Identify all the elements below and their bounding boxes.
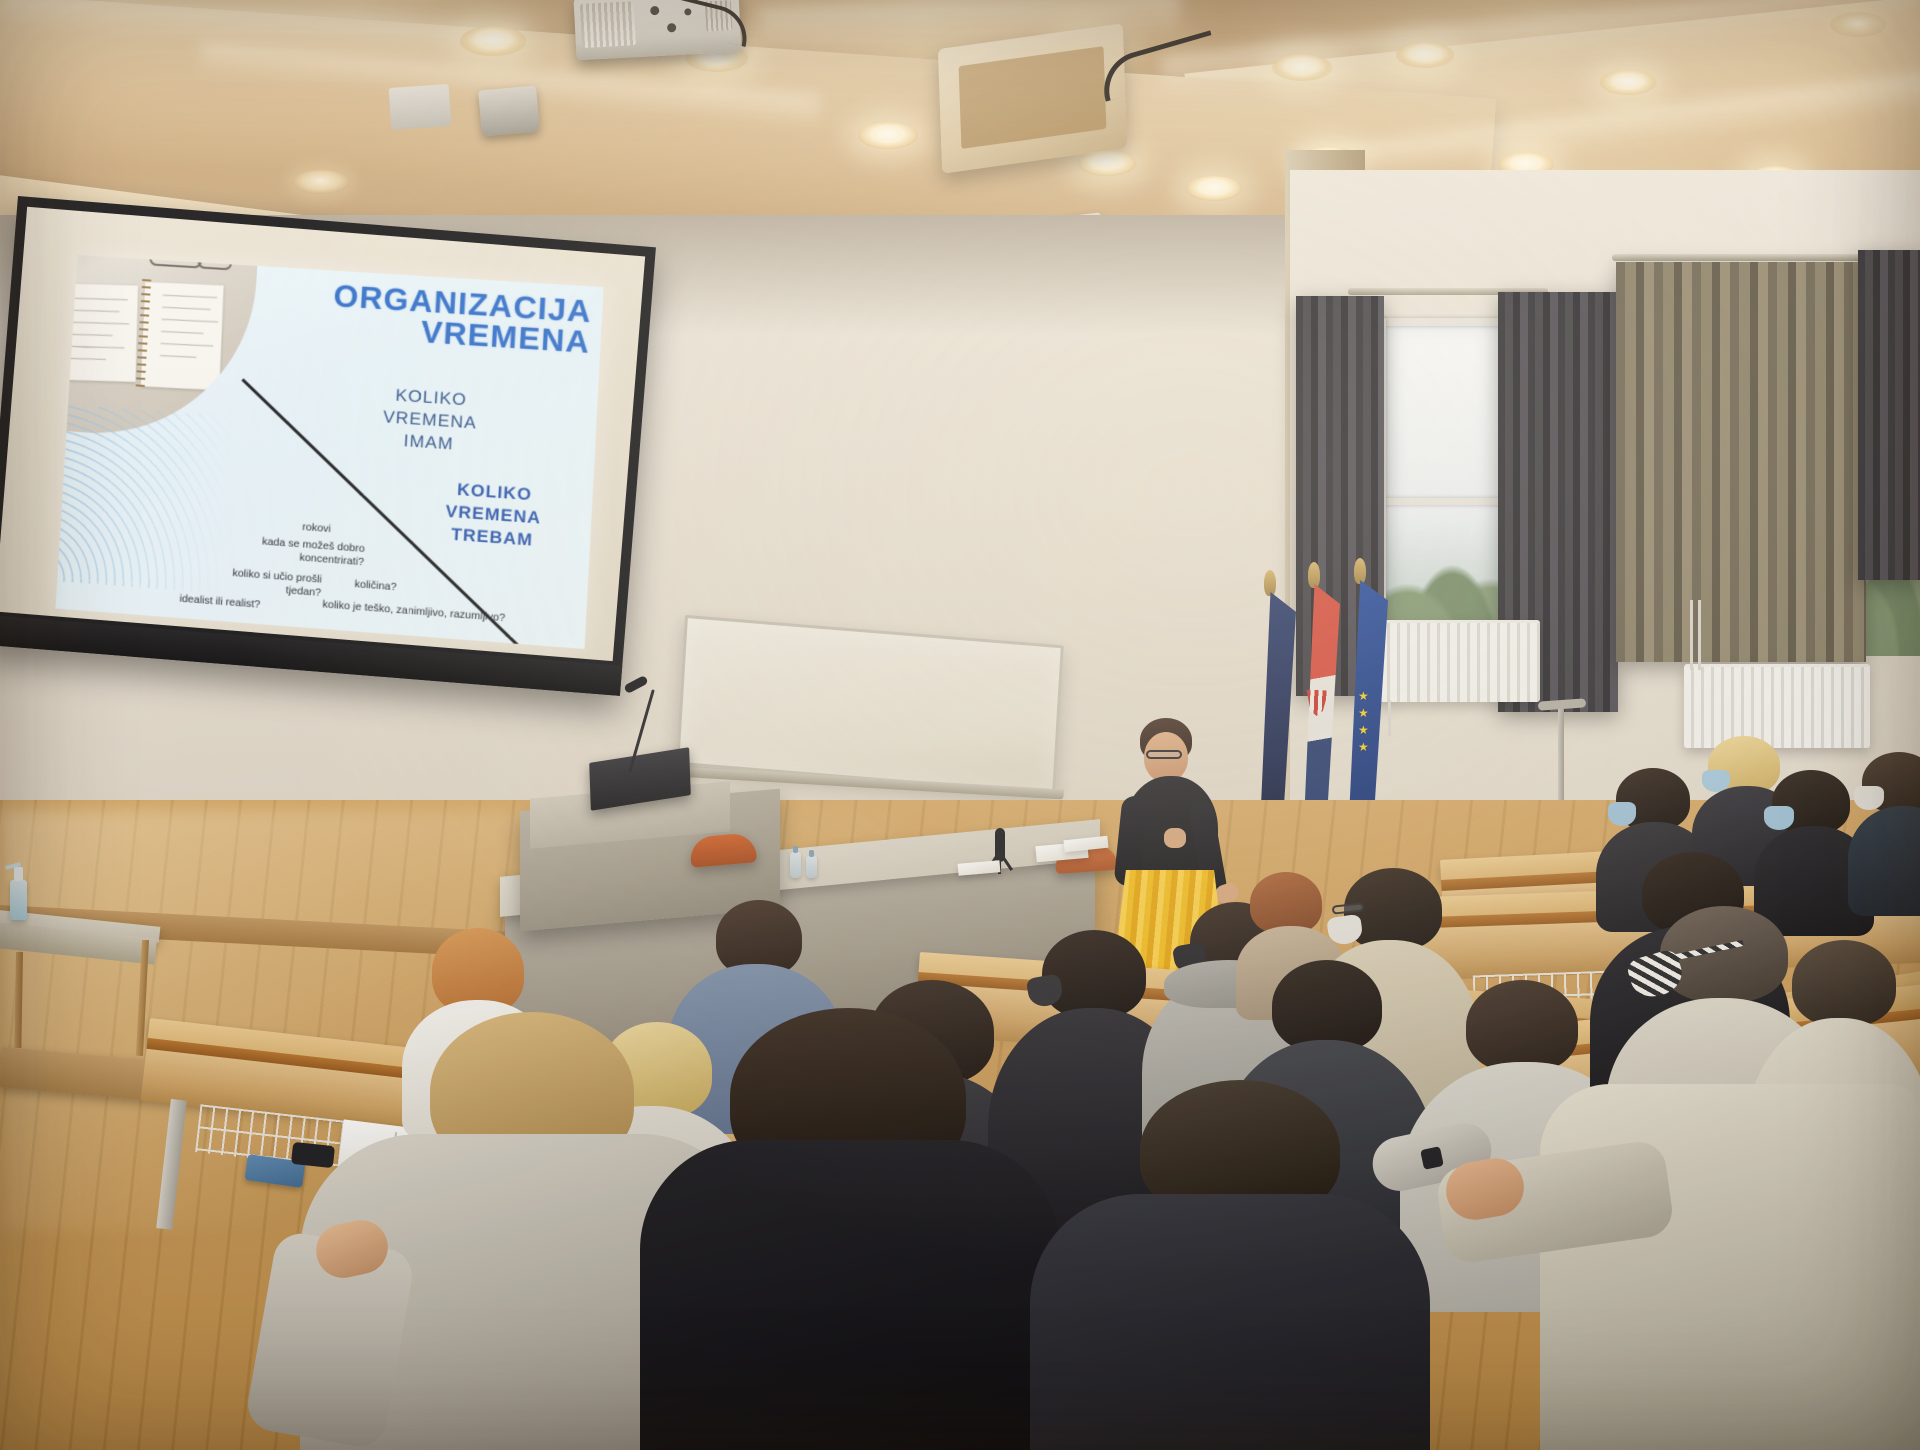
- ceiling-downlight: [460, 26, 526, 56]
- ac-cassette-unit: [938, 23, 1127, 173]
- lecture-hall-photo: ★★★★: [0, 0, 1920, 1450]
- glasses-icon: [1146, 750, 1182, 759]
- student-hair: [1042, 930, 1146, 1018]
- flagpole-finial: [1308, 562, 1320, 588]
- radiator-pipe: [1698, 600, 1701, 670]
- student-clothing: [1848, 806, 1920, 916]
- student-foreground-dark: [640, 1078, 1060, 1450]
- water-bottle: [790, 852, 801, 878]
- slide-point-tezina: koliko je teško, zanimljivo, razumljivo?: [322, 598, 505, 625]
- slide-photo-page: [61, 284, 138, 383]
- slide-heading-left: KOLIKO VREMENA IMAM: [356, 382, 504, 459]
- ceiling-sensor-icon: [478, 86, 540, 137]
- slide-photo-page: [141, 282, 224, 390]
- slide-title: ORGANIZACIJA VREMENA: [331, 281, 593, 358]
- window-frame: [1378, 498, 1514, 505]
- face-mask: [1608, 802, 1636, 826]
- radiator-pipe: [1388, 700, 1391, 736]
- slide-point-idealist: idealist ili realist?: [179, 592, 260, 611]
- student-foreground-cream: [1500, 1044, 1920, 1450]
- curtain: [1858, 250, 1920, 580]
- slide-heading-right: KOLIKO VREMENA TREBAM: [419, 476, 568, 554]
- face-mask: [1764, 806, 1794, 830]
- flagpole-finial: [1264, 570, 1276, 596]
- student-clothing: [1540, 1084, 1920, 1450]
- projection-screen-surface: ORGANIZACIJA VREMENA KOLIKO VREMENA IMAM…: [0, 207, 645, 661]
- radiator: [1380, 620, 1540, 702]
- hand-sanitizer-bottle: [10, 880, 27, 920]
- presentation-slide: ORGANIZACIJA VREMENA KOLIKO VREMENA IMAM…: [55, 255, 603, 649]
- ac-grille: [959, 46, 1107, 149]
- eu-flag-stars: ★★★★: [1358, 688, 1369, 756]
- slide-point-kolicina: količina?: [354, 578, 397, 595]
- ceiling-downlight: [1396, 42, 1454, 68]
- eyeglasses-icon: [149, 255, 202, 269]
- presenter-hand-left: [1164, 828, 1186, 848]
- face-mask: [1854, 786, 1884, 810]
- ceiling-downlight: [1078, 150, 1136, 176]
- slide-point-rokovi: rokovi: [302, 521, 331, 536]
- projector-vent: [580, 1, 636, 48]
- eyeglasses-icon: [197, 255, 232, 270]
- ceiling-downlight: [1186, 176, 1242, 201]
- projector-mount-arm: [389, 84, 452, 130]
- ceiling-downlight: [858, 122, 918, 149]
- student-masked-back-3: [1848, 752, 1920, 902]
- flagpole-finial: [1354, 558, 1366, 584]
- curtain: [1616, 262, 1866, 662]
- student-clothing: [1030, 1194, 1430, 1450]
- radiator-pipe: [1690, 600, 1693, 670]
- student-hair: [1272, 960, 1382, 1052]
- ceiling-downlight: [1830, 12, 1886, 37]
- slide-point-koncentracija: kada se možeš dobro koncentrirati?: [221, 532, 366, 569]
- ceiling-downlight: [1600, 70, 1656, 95]
- ceiling-downlight: [1272, 54, 1332, 81]
- projection-screen: ORGANIZACIJA VREMENA KOLIKO VREMENA IMAM…: [0, 196, 656, 696]
- slide-point-line: koliko si učio prošli: [232, 567, 322, 586]
- water-bottle: [806, 856, 817, 878]
- slide-point-line: tjedan?: [285, 584, 321, 599]
- window-frame: [1378, 318, 1514, 326]
- student-hair: [1792, 940, 1896, 1026]
- whiteboard: [676, 615, 1064, 795]
- student-foreground-blue: [1030, 1136, 1430, 1450]
- student-clothing: [640, 1140, 1060, 1450]
